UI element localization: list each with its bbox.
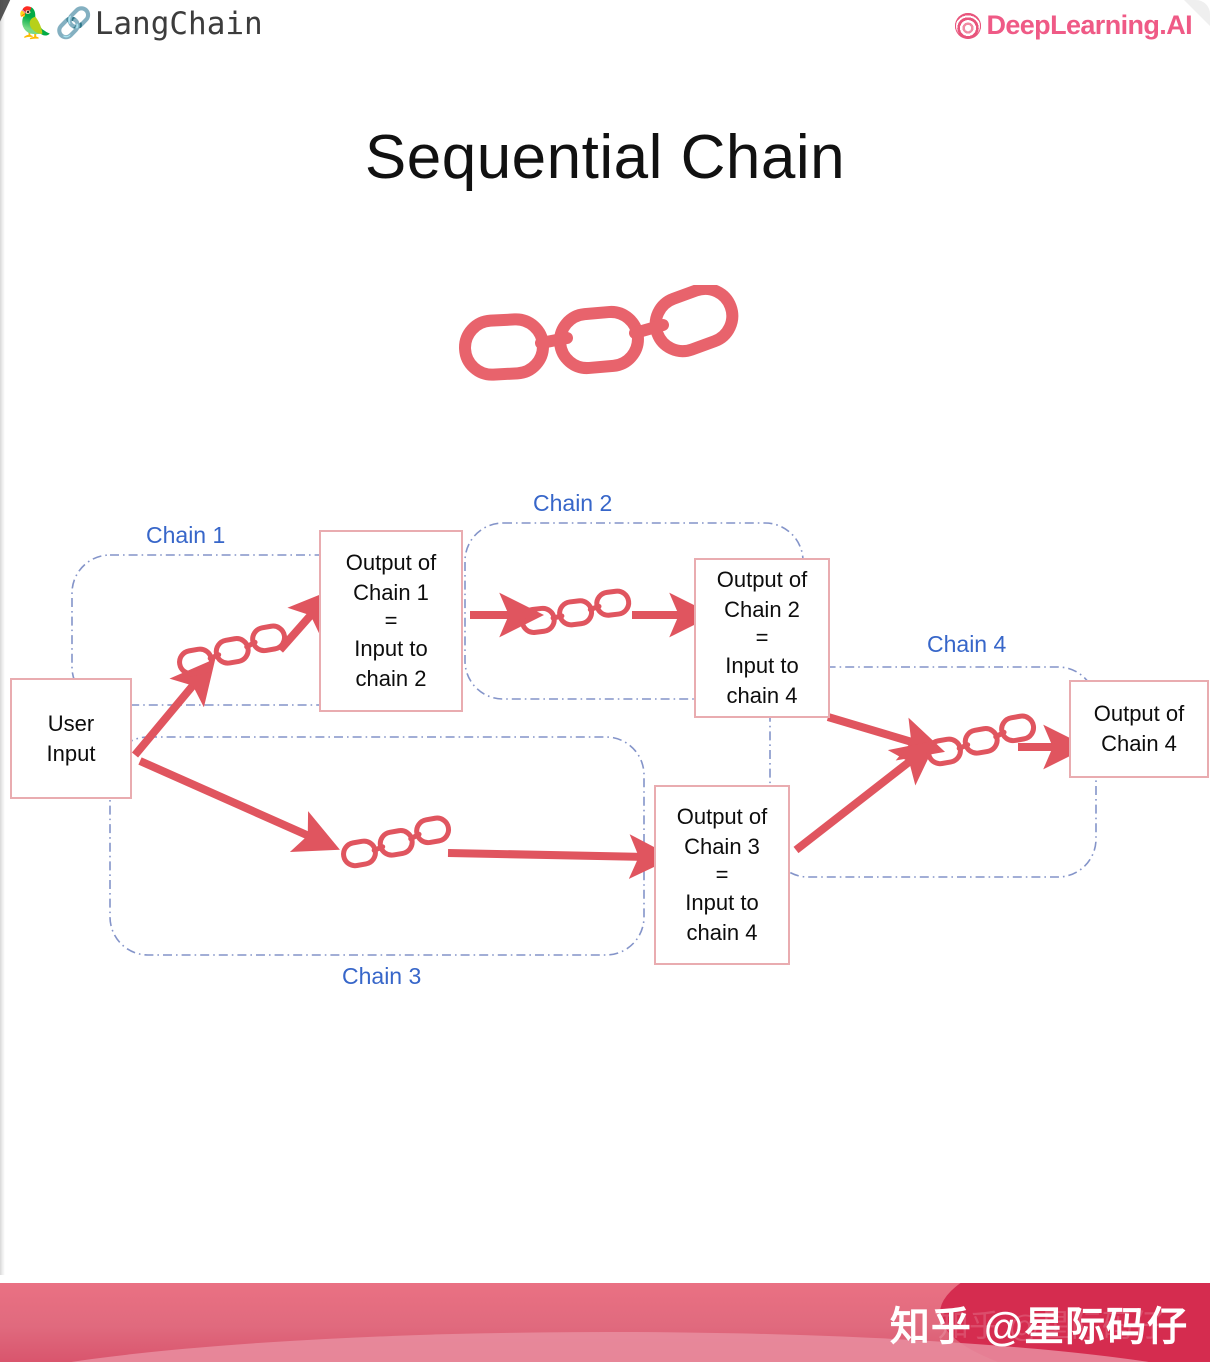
node-user-input: User Input (10, 678, 132, 799)
chain2-links-icon (520, 590, 631, 634)
node-line: Chain 4 (1101, 729, 1177, 759)
arrow-userinput-to-chain3 (140, 761, 318, 840)
group-label-chain-2: Chain 2 (533, 490, 612, 517)
group-label-chain-1: Chain 1 (146, 522, 225, 549)
node-line: chain 2 (356, 664, 427, 694)
node-output-chain-3: Output of Chain 3 = Input to chain 4 (654, 785, 790, 965)
chain4-links-icon (925, 714, 1037, 765)
node-equals-sign: = (756, 625, 769, 651)
watermark-text: 知乎 @星际码仔 (890, 1294, 1188, 1352)
node-line: Chain 2 (724, 595, 800, 625)
chain-link-icon: 🔗 (55, 9, 92, 39)
node-line: Chain 3 (684, 832, 760, 862)
node-line: Input (47, 739, 96, 769)
parrot-icon: 🦜 (16, 9, 53, 39)
node-line: chain 4 (727, 681, 798, 711)
node-equals-sign: = (385, 608, 398, 634)
chain3-boundary (110, 737, 644, 955)
watermark-banner: 知乎 @星际码仔 知乎 @星际码仔 (0, 1283, 1210, 1362)
node-equals-sign: = (716, 862, 729, 888)
brand-name-label: LangChain (95, 6, 263, 42)
sequential-chain-diagram: Chain 1 Chain 2 Chain 3 Chain 4 User Inp… (0, 455, 1210, 1025)
page-title: Sequential Chain (0, 122, 1210, 193)
node-line: User (48, 709, 94, 739)
node-line: Output of (346, 548, 437, 578)
node-line: Input to (685, 888, 758, 918)
node-line: Chain 1 (353, 578, 429, 608)
node-output-chain-2: Output of Chain 2 = Input to chain 4 (694, 558, 830, 718)
langchain-brand: 🦜 🔗 LangChain (16, 6, 263, 42)
arrow-output2-to-chain4 (828, 717, 922, 745)
node-line: Output of (677, 802, 768, 832)
partner-name-label: DeepLearning.AI (986, 10, 1192, 41)
node-output-chain-4: Output of Chain 4 (1069, 680, 1209, 778)
deeplearning-ai-brand: DeepLearning.AI (955, 10, 1192, 41)
node-output-chain-1: Output of Chain 1 = Input to chain 2 (319, 530, 463, 712)
hero-chain-links-icon (455, 285, 755, 395)
chain3-links-icon (340, 816, 452, 867)
node-line: Input to (354, 634, 427, 664)
node-line: Output of (717, 565, 808, 595)
slide-canvas: 🦜 🔗 LangChain DeepLearning.AI Sequential… (0, 0, 1210, 1362)
node-line: Output of (1094, 699, 1185, 729)
group-label-chain-3: Chain 3 (342, 963, 421, 990)
node-line: chain 4 (687, 918, 758, 948)
arrow-userinput-to-chain1 (135, 677, 200, 755)
arrow-output3-to-chain4 (796, 755, 918, 850)
chain1-links-icon (176, 624, 288, 675)
arrow-chain3-to-output3 (448, 853, 650, 857)
group-label-chain-4: Chain 4 (927, 631, 1006, 658)
node-line: Input to (725, 651, 798, 681)
deeplearning-ai-logo-icon (955, 13, 981, 39)
